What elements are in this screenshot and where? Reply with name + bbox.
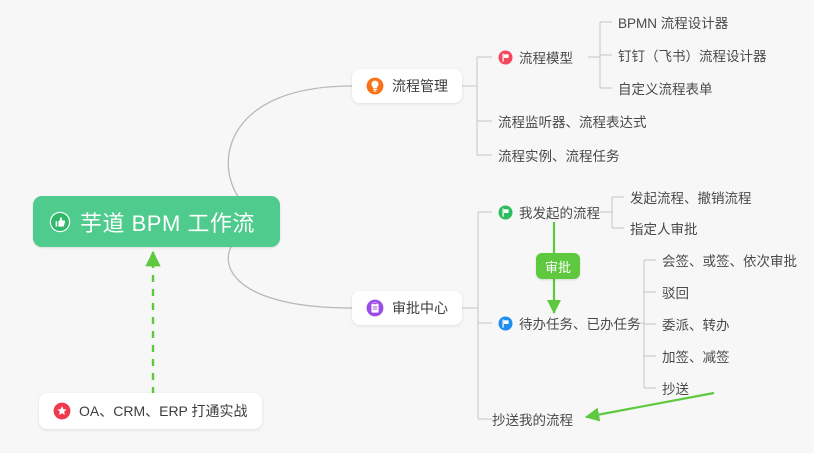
mindmap-canvas: 芋道 BPM 工作流 流程管理 流程模型 BPMN 流程设计器 钉钉（飞书）流程 (0, 0, 814, 453)
annotation-chip-approval[interactable]: 审批 (536, 253, 580, 279)
node-label-process-listener: 流程监听器、流程表达式 (498, 111, 647, 131)
annotation-chip-label: 审批 (545, 257, 571, 276)
node-label-process-instance: 流程实例、流程任务 (498, 145, 620, 165)
node-custom-form[interactable]: 自定义流程表单 (612, 75, 719, 101)
branch-label-approval-center: 审批中心 (392, 298, 448, 318)
node-process-listener[interactable]: 流程监听器、流程表达式 (492, 108, 653, 134)
node-dingtalk-designer[interactable]: 钉钉（飞书）流程设计器 (612, 42, 773, 68)
node-add-remove-sign[interactable]: 加签、减签 (656, 343, 736, 369)
floating-node-integration[interactable]: OA、CRM、ERP 打通实战 (39, 393, 262, 429)
branch-label-process-management: 流程管理 (392, 76, 448, 96)
node-counter-sign[interactable]: 会签、或签、依次审批 (656, 247, 803, 273)
node-reject[interactable]: 驳回 (656, 279, 695, 305)
flag-icon (498, 50, 513, 65)
node-label-dingtalk-designer: 钉钉（飞书）流程设计器 (618, 45, 767, 65)
lightbulb-icon (366, 77, 384, 95)
node-label-my-processes: 我发起的流程 (519, 202, 600, 222)
node-label-reject: 驳回 (662, 282, 689, 302)
flag-icon (498, 205, 513, 220)
node-bpmn-designer[interactable]: BPMN 流程设计器 (612, 9, 734, 35)
node-label-todo-done-tasks: 待办任务、已办任务 (519, 313, 641, 333)
node-process-instance[interactable]: 流程实例、流程任务 (492, 142, 626, 168)
clipboard-icon (366, 299, 384, 317)
node-label-counter-sign: 会签、或签、依次审批 (662, 250, 797, 270)
node-label-add-remove-sign: 加签、减签 (662, 346, 730, 366)
node-delegate-transfer[interactable]: 委派、转办 (656, 311, 736, 337)
node-start-cancel-process[interactable]: 发起流程、撤销流程 (624, 184, 758, 210)
thumbs-up-icon (49, 211, 71, 233)
root-node[interactable]: 芋道 BPM 工作流 (33, 196, 280, 247)
branch-node-approval-center[interactable]: 审批中心 (352, 291, 462, 325)
node-cc-my-processes[interactable]: 抄送我的流程 (486, 406, 579, 432)
node-label-process-model: 流程模型 (519, 47, 573, 67)
node-label-delegate-transfer: 委派、转办 (662, 314, 730, 334)
node-label-cc: 抄送 (662, 378, 689, 398)
node-assignee-approval[interactable]: 指定人审批 (624, 215, 704, 241)
node-process-model[interactable]: 流程模型 (492, 44, 579, 70)
root-label: 芋道 BPM 工作流 (80, 206, 255, 238)
node-cc[interactable]: 抄送 (656, 375, 695, 401)
node-label-custom-form: 自定义流程表单 (618, 78, 713, 98)
node-label-assignee-approval: 指定人审批 (630, 218, 698, 238)
floating-node-label-integration: OA、CRM、ERP 打通实战 (79, 401, 248, 421)
node-todo-done-tasks[interactable]: 待办任务、已办任务 (492, 310, 647, 336)
node-label-cc-my-processes: 抄送我的流程 (492, 409, 573, 429)
node-my-processes[interactable]: 我发起的流程 (492, 199, 606, 225)
branch-node-process-management[interactable]: 流程管理 (352, 69, 462, 103)
node-label-bpmn-designer: BPMN 流程设计器 (618, 12, 728, 32)
flag-icon (498, 316, 513, 331)
star-icon (53, 402, 71, 420)
node-label-start-cancel-process: 发起流程、撤销流程 (630, 187, 752, 207)
